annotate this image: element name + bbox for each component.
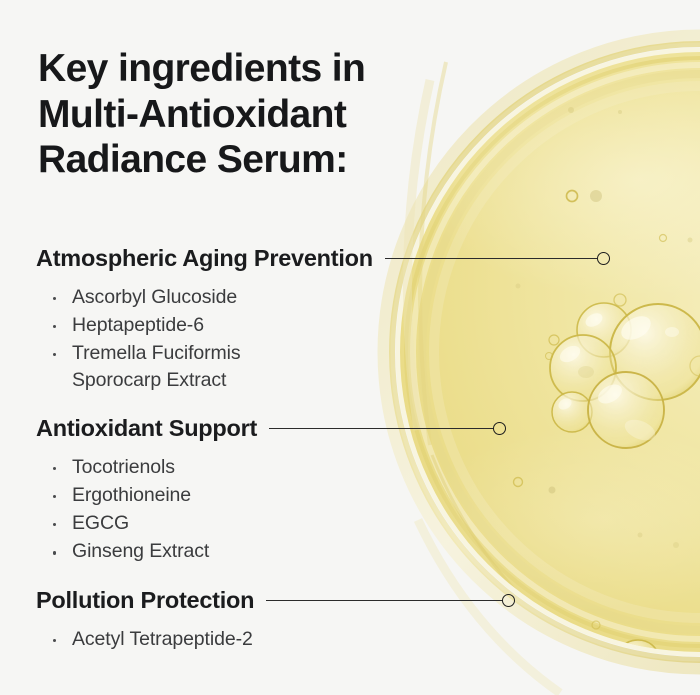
- page-title-line-2: Multi-Antioxidant: [38, 92, 438, 138]
- list-item: Heptapeptide-6: [36, 312, 596, 339]
- bullet-dot-icon: [53, 639, 56, 642]
- bullet-dot-icon: [53, 353, 56, 356]
- section-heading-antioxidant-support: Antioxidant Support: [36, 415, 257, 442]
- list-item: Ergothioneine: [36, 482, 596, 509]
- bullet-dot-icon: [53, 467, 56, 470]
- ingredient-list-pollution-protection: Acetyl Tetrapeptide-2: [36, 626, 596, 653]
- ingredient-name: Heptapeptide-6: [72, 314, 204, 336]
- section-atmospheric-aging-prevention: Atmospheric Aging Prevention Ascorbyl Gl…: [36, 243, 596, 395]
- ingredient-list-atmospheric-aging-prevention: Ascorbyl Glucoside Heptapeptide-6 Tremel…: [36, 284, 596, 394]
- bullet-dot-icon: [53, 297, 56, 300]
- list-item: EGCG: [36, 510, 596, 537]
- ingredient-name: Tremella Fuciformis: [72, 342, 241, 364]
- ingredient-list-antioxidant-support: Tocotrienols Ergothioneine EGCG Ginseng …: [36, 454, 596, 565]
- callout-ring-icon: [597, 252, 610, 265]
- section-antioxidant-support: Antioxidant Support Tocotrienols Ergothi…: [36, 413, 596, 566]
- ingredient-name: Ergothioneine: [72, 484, 191, 506]
- callout-leader-1: [385, 252, 610, 265]
- section-heading-atmospheric-aging-prevention: Atmospheric Aging Prevention: [36, 245, 373, 272]
- list-item: Acetyl Tetrapeptide-2: [36, 626, 596, 653]
- list-item: Tremella Fuciformis Sporocarp Extract: [36, 340, 596, 394]
- bullet-dot-icon: [53, 523, 56, 526]
- callout-leader-2: [269, 422, 506, 435]
- leader-line: [385, 258, 598, 259]
- bullet-dot-icon: [53, 495, 56, 498]
- ingredient-name: Acetyl Tetrapeptide-2: [72, 628, 253, 650]
- callout-ring-icon: [493, 422, 506, 435]
- page-title-line-1: Key ingredients in: [38, 46, 438, 92]
- leader-line: [269, 428, 494, 429]
- callout-leader-3: [266, 594, 515, 607]
- page-title: Key ingredients in Multi-Antioxidant Rad…: [38, 46, 438, 183]
- page-title-line-3: Radiance Serum:: [38, 137, 438, 183]
- section-pollution-protection: Pollution Protection Acetyl Tetrapeptide…: [36, 585, 596, 654]
- callout-ring-icon: [502, 594, 515, 607]
- list-item: Ascorbyl Glucoside: [36, 284, 596, 311]
- ingredient-name: Tocotrienols: [72, 456, 175, 478]
- section-heading-pollution-protection: Pollution Protection: [36, 587, 254, 614]
- leader-line: [266, 600, 503, 601]
- ingredient-name: Ginseng Extract: [72, 540, 209, 562]
- bullet-dot-icon: [53, 325, 56, 328]
- section-header: Pollution Protection: [36, 585, 596, 615]
- ingredient-name: Ascorbyl Glucoside: [72, 286, 237, 308]
- list-item: Ginseng Extract: [36, 538, 596, 565]
- list-item: Tocotrienols: [36, 454, 596, 481]
- infographic-content: Key ingredients in Multi-Antioxidant Rad…: [0, 0, 700, 695]
- ingredient-name: EGCG: [72, 512, 129, 534]
- ingredient-name-continuation: Sporocarp Extract: [72, 367, 596, 394]
- section-header: Antioxidant Support: [36, 413, 596, 443]
- section-header: Atmospheric Aging Prevention: [36, 243, 596, 273]
- bullet-dot-icon: [53, 551, 56, 554]
